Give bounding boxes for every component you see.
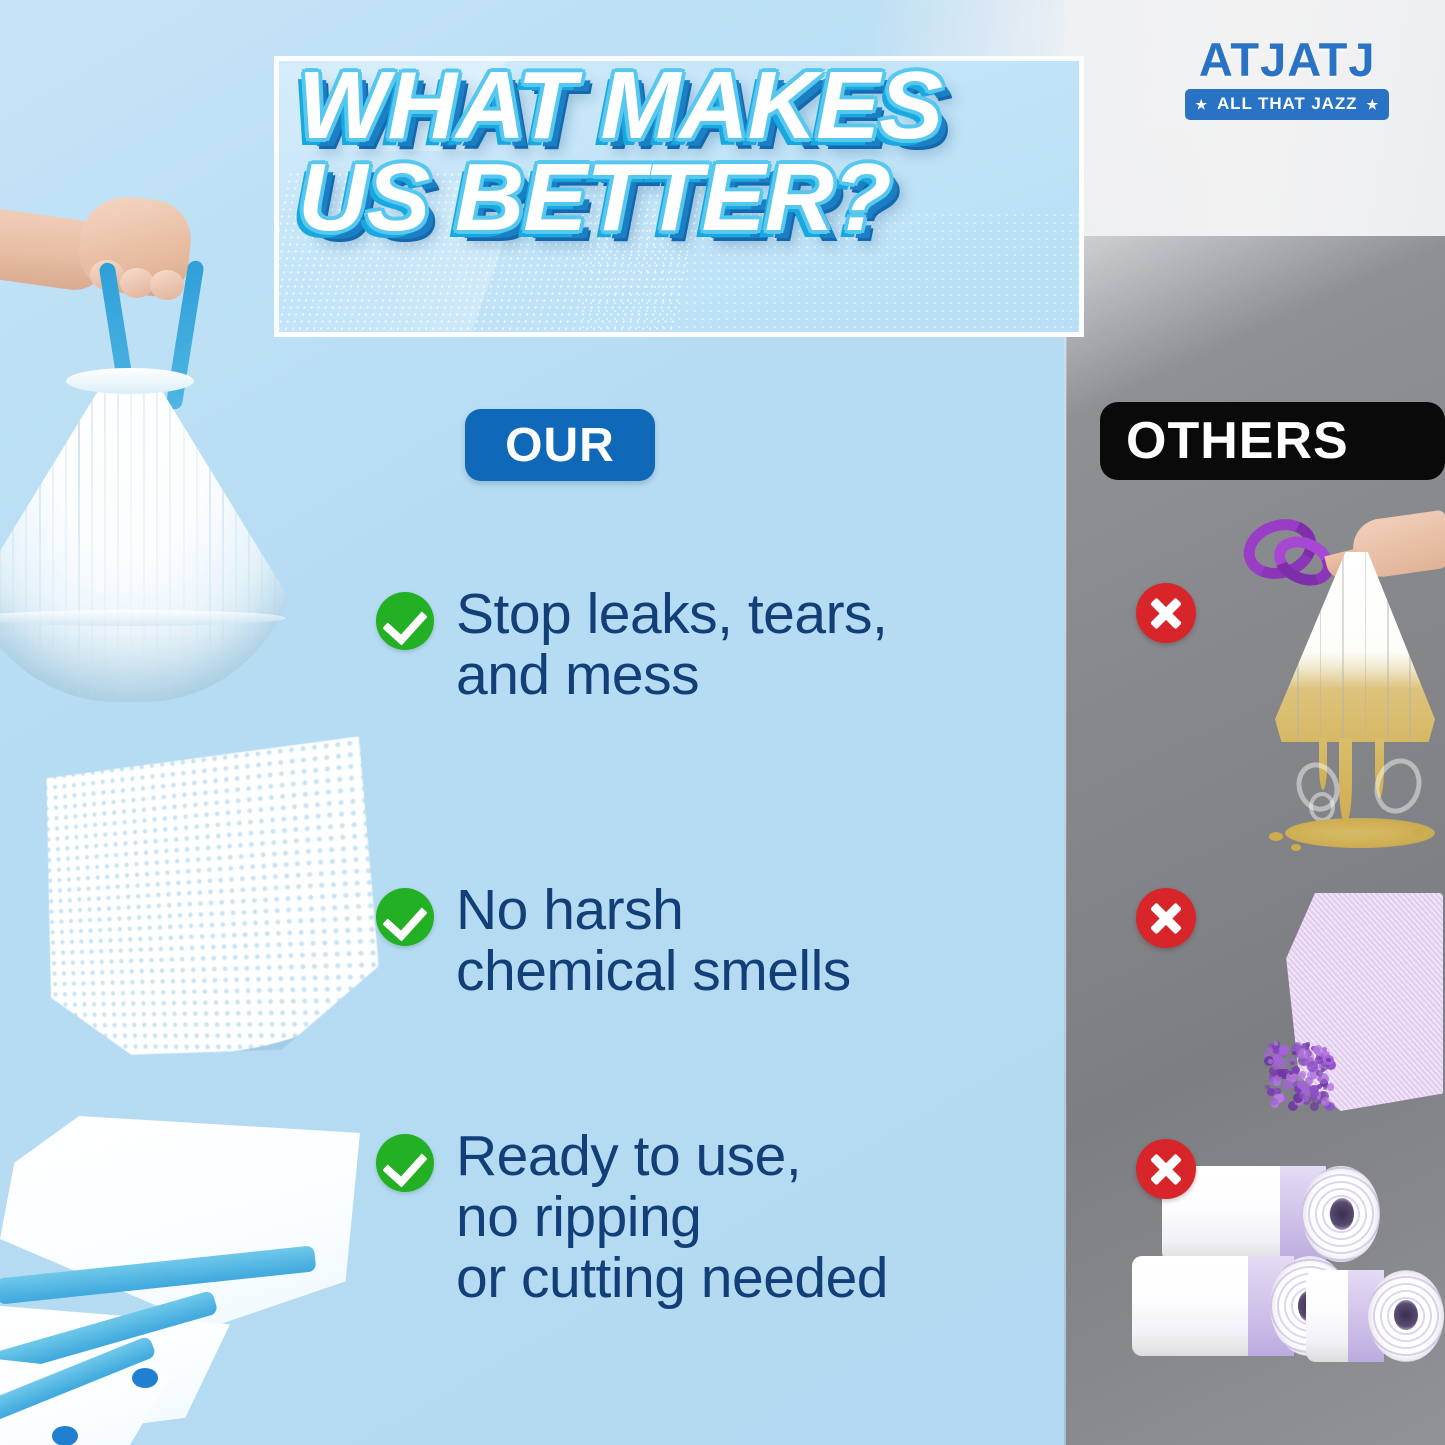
bag-pleat — [65, 372, 67, 702]
blue-dot — [52, 1426, 78, 1445]
bag-pleat — [222, 372, 224, 702]
red-x-icon — [1136, 583, 1196, 643]
bag-roll — [1306, 1270, 1445, 1362]
brand-name: ATJATJ — [1185, 36, 1389, 83]
bag-pleat — [25, 372, 27, 702]
lavender-floret — [1313, 1045, 1323, 1055]
bag-pleat — [261, 372, 263, 702]
bag-body — [0, 372, 300, 702]
bag-pleat — [209, 372, 211, 702]
bag-pleat — [274, 372, 276, 702]
benefit-line: Stop leaks, tears, — [456, 582, 887, 646]
benefit-line: chemical smells — [456, 939, 851, 1003]
absorbent-sheet — [40, 736, 383, 1057]
liquid-splatter — [1291, 844, 1301, 851]
benefit-row: Stop leaks, tears, and mess — [376, 584, 887, 706]
benefit-line: No harsh — [456, 878, 683, 942]
lavender-floret — [1299, 1093, 1305, 1099]
lavender-floret — [1289, 1071, 1293, 1075]
odor-wisp-icon — [1309, 792, 1335, 822]
green-check-icon — [376, 592, 434, 650]
bag-pleat — [196, 372, 198, 702]
benefit-label: Ready to use, no ripping or cutting need… — [456, 1126, 888, 1309]
lavender-floret — [1307, 1061, 1318, 1072]
brand-tagline-bar: ★ ALL THAT JAZZ ★ — [1185, 89, 1389, 120]
bag-pleat — [39, 372, 41, 702]
green-check-icon — [376, 888, 434, 946]
benefit-label: Stop leaks, tears, and mess — [456, 584, 887, 706]
bag-pleat — [235, 372, 237, 702]
our-column-badge: OUR — [465, 409, 655, 481]
lavender-floret — [1270, 1098, 1278, 1106]
bag-pleat — [0, 372, 1, 702]
benefit-label: No harsh chemical smells — [456, 880, 851, 1002]
red-x-icon — [1136, 1139, 1196, 1199]
lavender-floret — [1282, 1080, 1292, 1090]
stacked-bags-blue-trim-photo — [0, 1110, 410, 1440]
lavender-floret — [1267, 1088, 1275, 1096]
benefit-line: and mess — [456, 643, 699, 707]
liquid-drip — [1339, 738, 1352, 824]
benefit-line: no ripping — [456, 1185, 701, 1249]
lavender-floret — [1290, 1061, 1294, 1065]
lavender-floret — [1317, 1100, 1321, 1104]
benefit-line: Ready to use, — [456, 1124, 801, 1188]
star-icon: ★ — [1366, 98, 1379, 111]
benefit-row: Ready to use, no ripping or cutting need… — [376, 1126, 888, 1309]
brand-tagline: ALL THAT JAZZ — [1217, 94, 1357, 114]
bag-pleat — [130, 372, 132, 702]
leaking-bag-photo — [1235, 510, 1445, 890]
bag-pleat — [143, 372, 145, 702]
lavender-floret — [1305, 1077, 1313, 1085]
lavender-floret — [1279, 1045, 1289, 1055]
lavender-floret — [1318, 1073, 1329, 1084]
liquid-splatter — [1269, 832, 1283, 841]
bag-rolls-photo — [1158, 1158, 1445, 1445]
lavender-floret — [1323, 1086, 1327, 1090]
bag-pleat — [91, 372, 93, 702]
lavender-floret — [1326, 1058, 1330, 1062]
star-icon: ★ — [1195, 98, 1208, 111]
bag-pleat — [52, 372, 54, 702]
blue-dot — [132, 1368, 158, 1388]
red-x-icon — [1136, 888, 1196, 948]
liquid-splatter — [1413, 828, 1425, 836]
hand-holding-drawstring-bag-photo — [0, 190, 360, 710]
headline-line-1: WHAT MAKES — [298, 52, 942, 159]
lavender-sheet-photo — [1255, 893, 1445, 1123]
infographic-canvas: WHAT MAKES US BETTER? ATJATJ ★ ALL THAT … — [0, 0, 1445, 1445]
headline-line-2: US BETTER? — [298, 152, 1098, 244]
benefit-line: or cutting needed — [456, 1246, 888, 1310]
bag-pleat — [117, 372, 119, 702]
bag-pleat — [248, 372, 250, 702]
page-title: WHAT MAKES US BETTER? — [298, 60, 1098, 244]
knuckle — [120, 268, 154, 298]
bag-roll — [1162, 1166, 1378, 1262]
lavender-floret — [1268, 1059, 1273, 1064]
lavender-floret — [1297, 1073, 1305, 1081]
lavender-floret — [1306, 1042, 1310, 1046]
bag-pleat — [104, 372, 106, 702]
benefit-row: No harsh chemical smells — [376, 880, 851, 1002]
bag-pleat — [78, 372, 80, 702]
brand-logo: ATJATJ ★ ALL THAT JAZZ ★ — [1185, 36, 1389, 120]
green-check-icon — [376, 1134, 434, 1192]
others-column-badge: OTHERS — [1100, 402, 1445, 480]
bag-pleat — [12, 372, 14, 702]
bag-cinch — [66, 368, 194, 394]
lavender-floret — [1273, 1056, 1281, 1064]
knuckle — [150, 270, 184, 300]
bag-pleat — [169, 372, 171, 702]
bag-pleat — [287, 372, 289, 702]
lavender-floret — [1327, 1083, 1335, 1091]
bag-pleat — [183, 372, 185, 702]
bag-pleat — [156, 372, 158, 702]
textured-white-sheet-photo — [10, 755, 410, 1075]
